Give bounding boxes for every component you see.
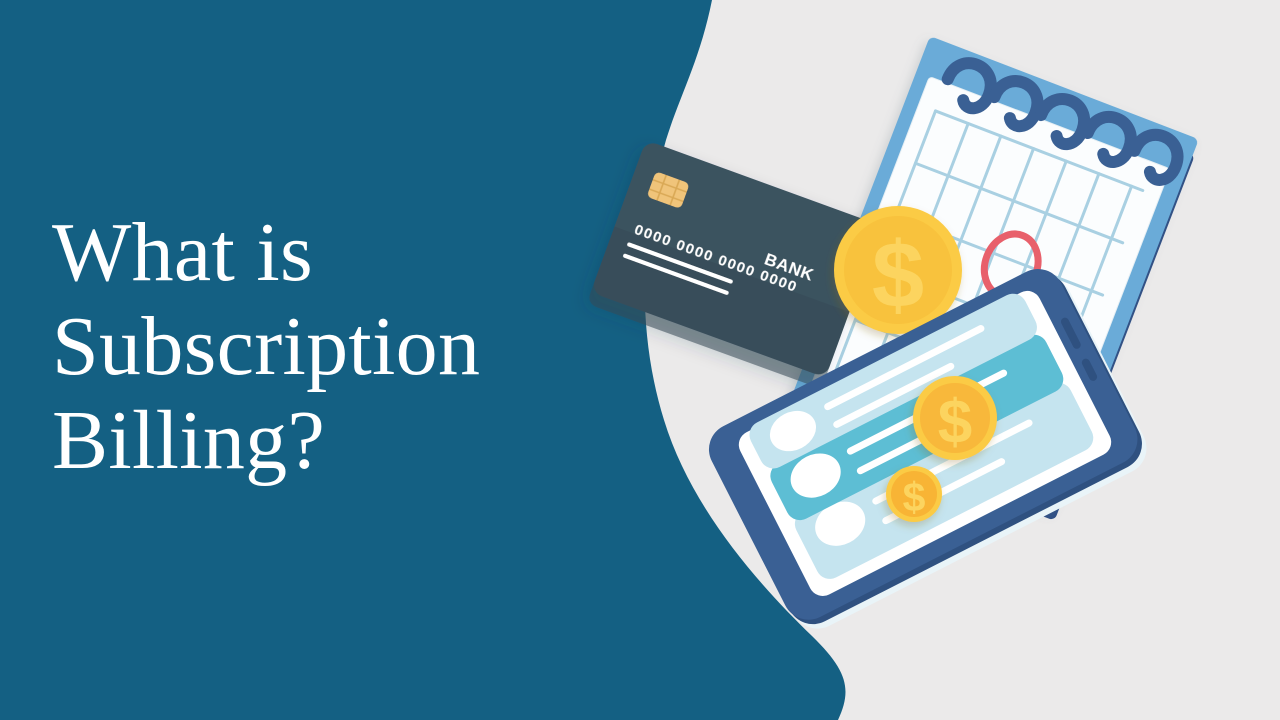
- page-title: What is Subscription Billing?: [52, 206, 612, 488]
- slide-canvas: What is Subscription Billing?: [0, 0, 1280, 720]
